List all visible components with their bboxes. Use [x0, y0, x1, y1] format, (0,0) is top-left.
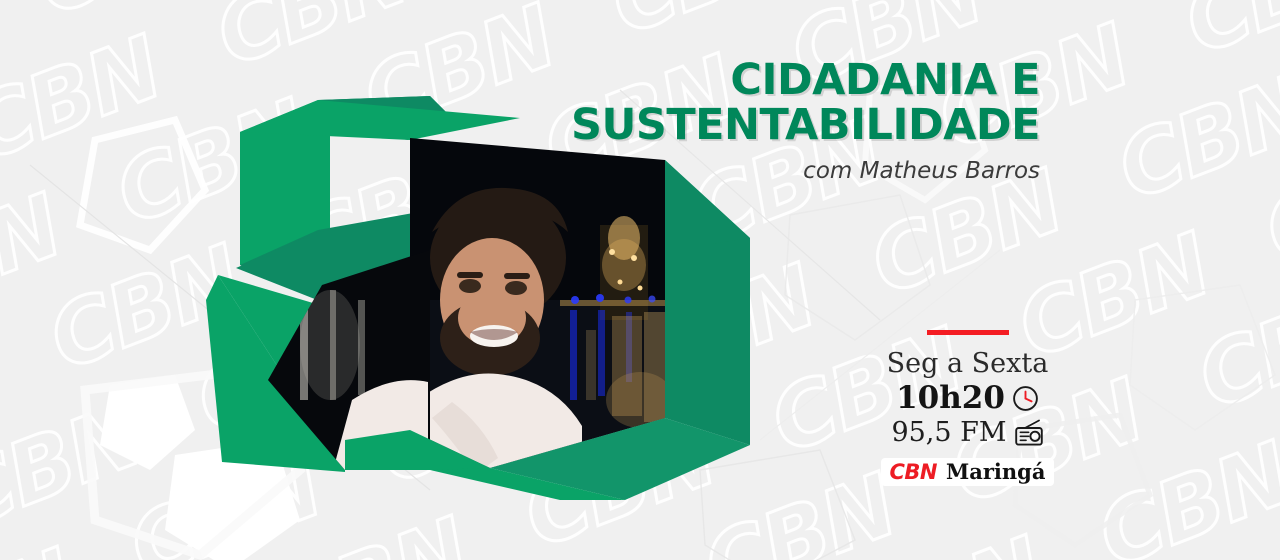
divider	[927, 330, 1009, 335]
broadcast-frequency: 95,5 FM	[891, 417, 1006, 449]
radio-icon	[1014, 419, 1044, 447]
page-title-line2: SUSTENTABILIDADE	[571, 103, 1040, 148]
radio-program-banner: CBNCBNCBNCBNCBNCBNCBN CBNCBNCBNCBNCBNCBN…	[0, 0, 1280, 560]
program-host-subtitle: com Matheus Barros	[571, 158, 1040, 184]
station-logo-city: Maringá	[946, 461, 1045, 483]
station-logo: CBN Maringá	[881, 458, 1055, 486]
broadcast-time: 10h20	[896, 381, 1005, 415]
broadcast-days: Seg a Sexta	[880, 349, 1055, 379]
schedule-info-block: Seg a Sexta 10h20 95,5 FM	[880, 330, 1055, 486]
clock-icon	[1012, 385, 1039, 412]
page-title-line1: CIDADANIA E	[571, 58, 1040, 103]
broadcast-time-row: 10h20	[880, 381, 1055, 415]
station-logo-brand: CBN	[890, 461, 938, 483]
broadcast-frequency-row: 95,5 FM	[880, 417, 1055, 449]
program-title-block: CIDADANIA E SUSTENTABILIDADE com Matheus…	[571, 58, 1040, 184]
